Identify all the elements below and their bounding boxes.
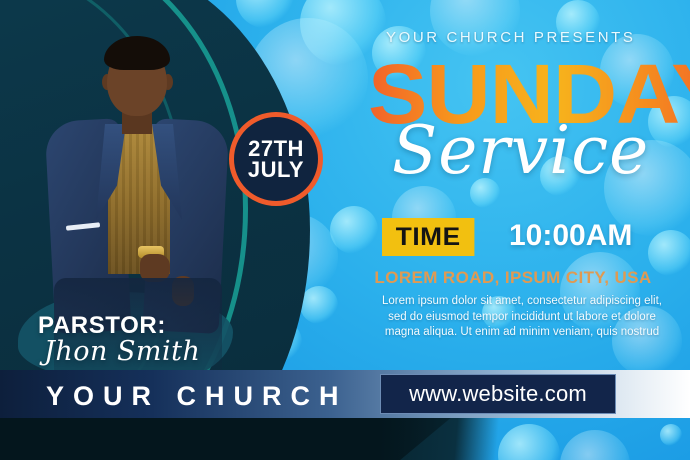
date-month: JULY xyxy=(248,159,304,180)
time-label: TIME xyxy=(396,223,461,252)
date-day: 27TH xyxy=(248,138,304,159)
website-url: www.website.com xyxy=(409,381,587,407)
time-value: 10:00AM xyxy=(509,219,632,253)
pastor-name: Jhon Smith xyxy=(44,336,200,367)
hair xyxy=(104,36,170,70)
website-box[interactable]: www.website.com xyxy=(380,374,616,414)
bottom-diagonal-wedge xyxy=(0,414,690,460)
church-flyer: 27TH JULY YOUR CHURCH PRESENTS SUNDAY Se… xyxy=(0,0,690,460)
time-label-box: TIME xyxy=(382,218,474,256)
footer-church-name: YOUR CHURCH xyxy=(46,381,348,412)
body-copy: Lorem ipsum dolor sit amet, consectetur … xyxy=(372,294,672,341)
date-badge: 27TH JULY xyxy=(229,112,323,206)
header-kicker: YOUR CHURCH PRESENTS xyxy=(386,29,636,46)
address-line: LOREM ROAD, IPSUM CITY, USA xyxy=(0,268,676,288)
title-script: Service xyxy=(392,118,649,184)
